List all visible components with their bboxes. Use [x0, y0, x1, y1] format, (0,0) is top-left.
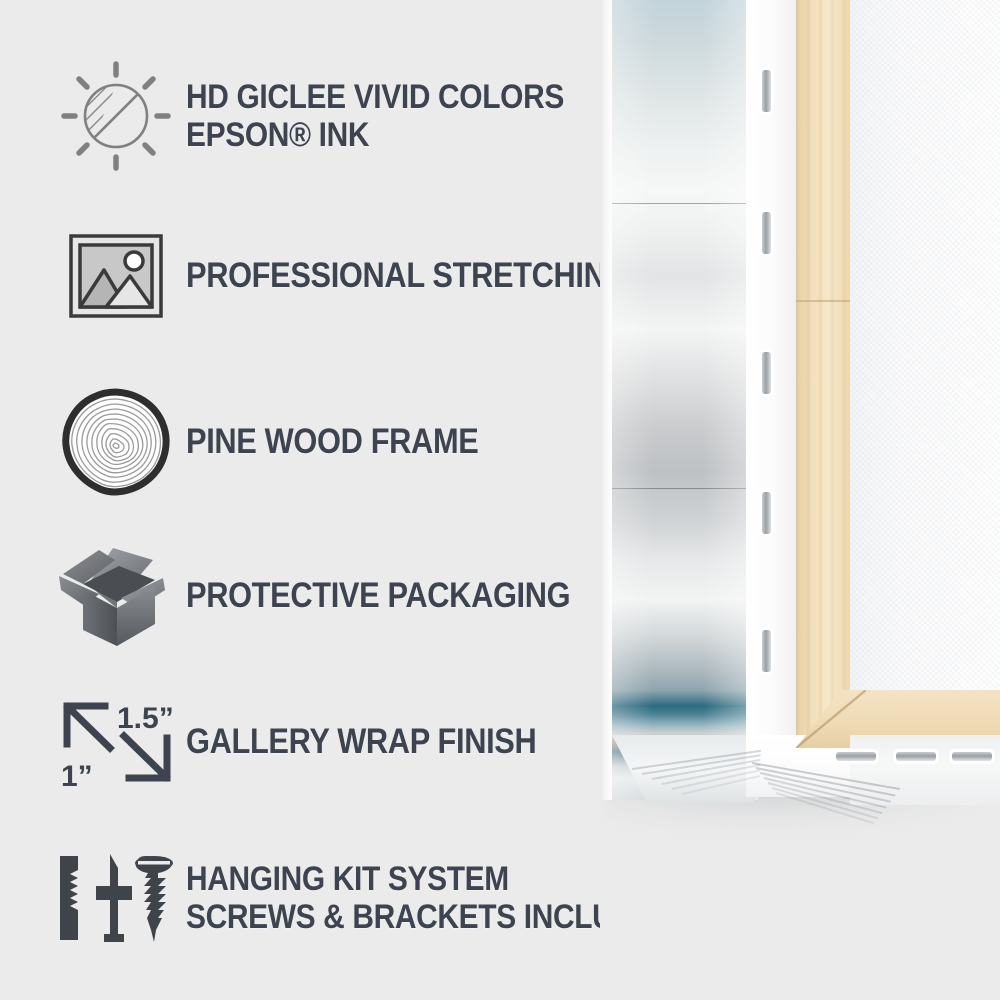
staple [952, 752, 992, 761]
feature-item-gallery-wrap: 1.5” 1” GALLERY WRAP FINISH [46, 692, 584, 792]
feature-item-packaging: PROTECTIVE PACKAGING [46, 540, 623, 652]
depth-top-label: 1.5” [117, 702, 174, 735]
canvas-back-surface [850, 0, 1000, 735]
staple [762, 212, 771, 254]
feature-label-pine-wood: PINE WOOD FRAME [186, 424, 478, 461]
staple [762, 492, 771, 534]
feature-label-packaging: PROTECTIVE PACKAGING [186, 578, 570, 615]
picture-frame-icon [46, 228, 186, 324]
depth-arrows-icon: 1.5” 1” [46, 692, 186, 792]
depth-bottom-label: 1” [61, 760, 93, 792]
staple [896, 752, 936, 761]
sun-hatched-icon [46, 58, 186, 174]
feature-label-hanging-line1: HANGING KIT SYSTEM [186, 860, 509, 898]
feature-item-stretching: PROFESSIONAL STRETCHING [46, 228, 690, 324]
feature-list: HD GICLEE VIVID COLORS EPSON® INK PROFES… [0, 0, 640, 1000]
staple [762, 70, 771, 112]
canvas-edge-photo [600, 0, 1000, 1000]
staple [762, 630, 771, 672]
tree-rings-icon [46, 388, 186, 496]
feature-label-stretching: PROFESSIONAL STRETCHING [186, 258, 629, 295]
wood-grain-seam [796, 300, 852, 302]
feature-label-giclee-line1: HD GICLEE VIVID COLORS [186, 78, 564, 116]
pine-stretcher-bar [796, 0, 852, 742]
feature-label-giclee-line2: EPSON® INK [186, 116, 369, 154]
feature-label-giclee: HD GICLEE VIVID COLORS EPSON® INK [186, 78, 564, 154]
artwork-sheen [612, 0, 758, 800]
feature-item-pine-wood: PINE WOOD FRAME [46, 388, 518, 496]
feature-item-giclee: HD GICLEE VIVID COLORS EPSON® INK [46, 58, 615, 174]
hanging-hardware-icon [46, 848, 186, 948]
open-box-icon [46, 540, 186, 652]
infographic-page: HD GICLEE VIVID COLORS EPSON® INK PROFES… [0, 0, 1000, 1000]
canvas-bottom-inner [850, 735, 1000, 805]
staple [836, 752, 876, 761]
staple [762, 352, 771, 394]
feature-label-gallery-wrap: GALLERY WRAP FINISH [186, 724, 536, 761]
